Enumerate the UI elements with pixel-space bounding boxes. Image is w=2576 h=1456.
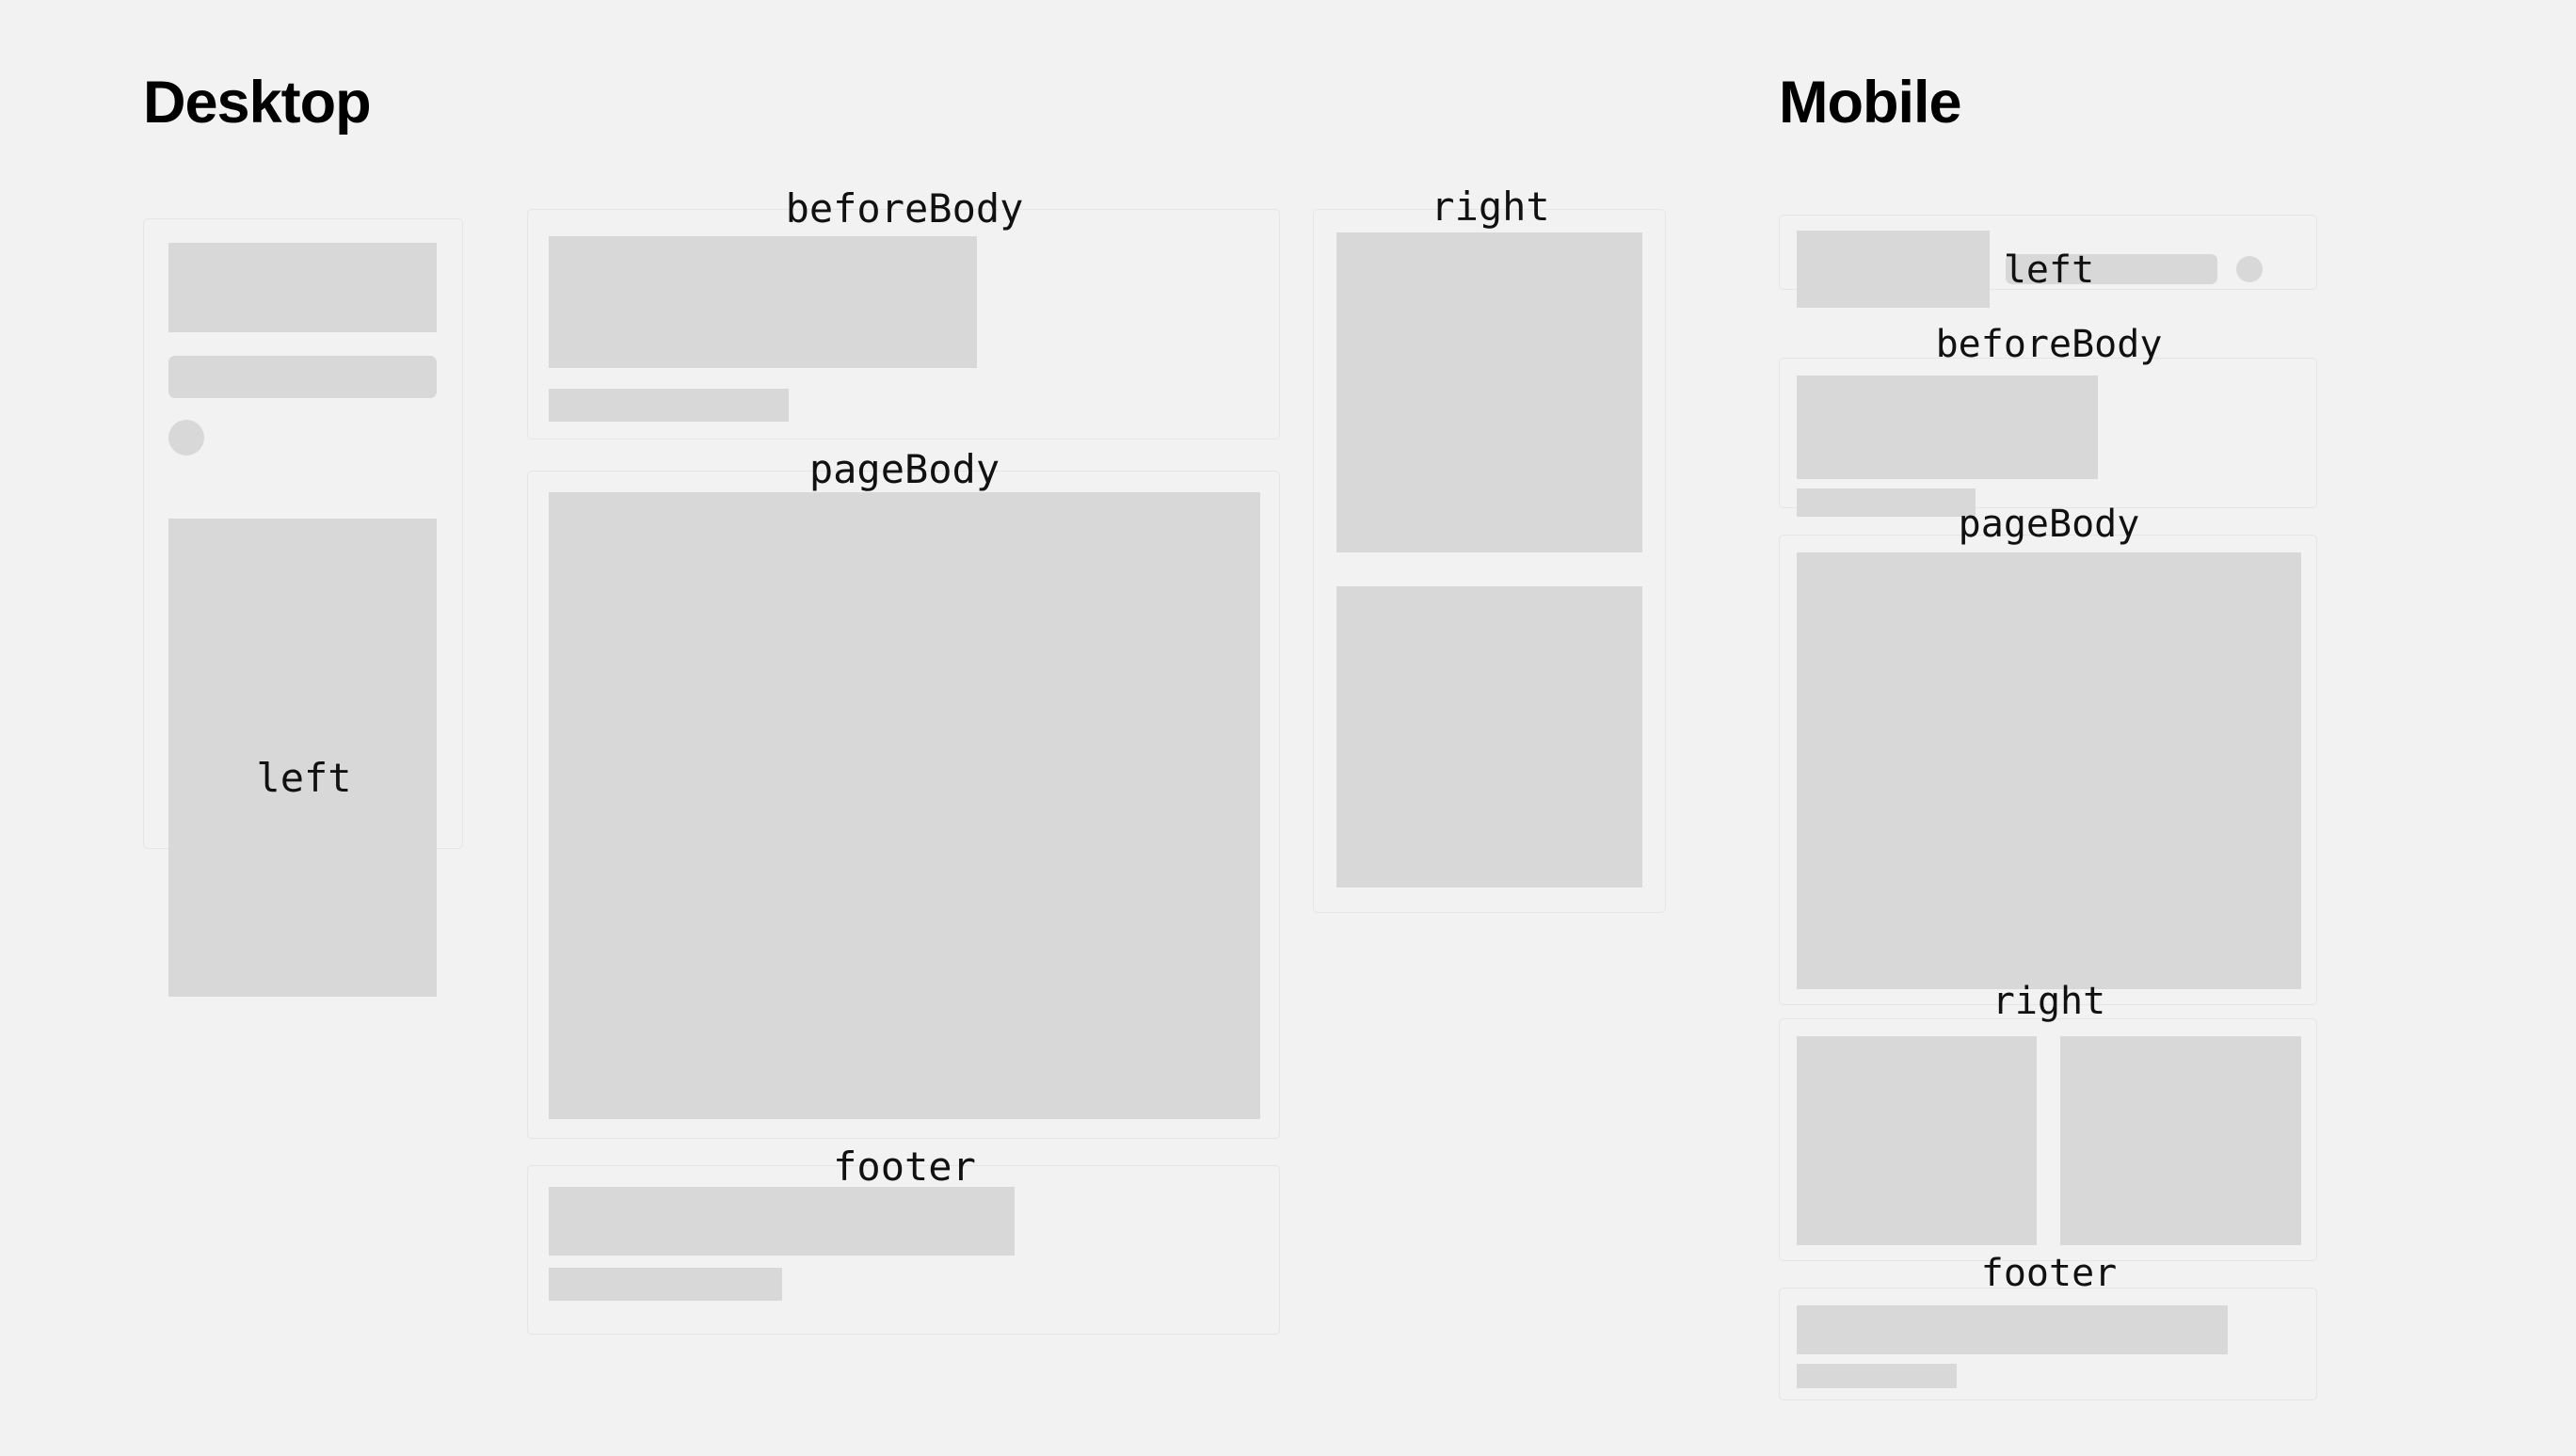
desktop-page-body-panel[interactable]: pageBody bbox=[527, 471, 1280, 1139]
desktop-page-body-slot-label: pageBody bbox=[528, 450, 1281, 489]
mobile-footer-bar bbox=[1797, 1364, 1957, 1388]
desktop-left-nav-block bbox=[168, 519, 437, 997]
desktop-right-panel[interactable]: right bbox=[1313, 209, 1666, 913]
mobile-page-body-content-block bbox=[1797, 552, 2301, 989]
layout-preview-stage: Desktop left beforeBody pageBody right f… bbox=[0, 0, 2576, 1456]
desktop-right-widget-block-bottom bbox=[1336, 586, 1642, 888]
mobile-left-panel[interactable]: left bbox=[1779, 215, 2317, 290]
mobile-page-body-panel[interactable]: pageBody bbox=[1779, 535, 2317, 1005]
desktop-left-header-block bbox=[168, 243, 437, 332]
desktop-before-body-panel[interactable]: beforeBody bbox=[527, 209, 1280, 440]
mobile-right-panel[interactable]: right bbox=[1779, 1018, 2317, 1261]
mobile-before-body-caption-bar bbox=[1797, 488, 1976, 517]
mobile-left-subheader-bar bbox=[2006, 254, 2217, 284]
mobile-footer-panel[interactable]: footer bbox=[1779, 1288, 2317, 1400]
desktop-page-body-content-block bbox=[549, 492, 1260, 1119]
mobile-before-body-slot-label: beforeBody bbox=[1780, 326, 2318, 363]
desktop-footer-panel[interactable]: footer bbox=[527, 1165, 1280, 1335]
desktop-before-body-banner-block bbox=[549, 236, 977, 368]
mobile-before-body-banner-block bbox=[1797, 376, 2098, 479]
mobile-left-header-block bbox=[1797, 231, 1990, 308]
mobile-section-title: Mobile bbox=[1779, 73, 1961, 133]
desktop-footer-slot-label: footer bbox=[528, 1147, 1281, 1187]
desktop-right-widget-block-top bbox=[1336, 232, 1642, 552]
mobile-before-body-panel[interactable]: beforeBody bbox=[1779, 358, 2317, 508]
mobile-right-widget-block-right bbox=[2060, 1036, 2301, 1245]
desktop-section-title: Desktop bbox=[143, 73, 371, 133]
desktop-before-body-caption-bar bbox=[549, 389, 789, 422]
desktop-right-slot-label: right bbox=[1314, 187, 1667, 227]
desktop-left-avatar-dot bbox=[168, 420, 204, 456]
mobile-right-widget-block-left bbox=[1797, 1036, 2037, 1245]
desktop-left-panel[interactable]: left bbox=[143, 218, 463, 849]
mobile-footer-block bbox=[1797, 1305, 2228, 1354]
mobile-left-avatar-dot bbox=[2236, 256, 2263, 282]
desktop-footer-bar bbox=[549, 1268, 782, 1301]
desktop-before-body-slot-label: beforeBody bbox=[528, 189, 1281, 229]
desktop-left-subheader-bar bbox=[168, 356, 437, 398]
desktop-footer-block bbox=[549, 1187, 1015, 1256]
